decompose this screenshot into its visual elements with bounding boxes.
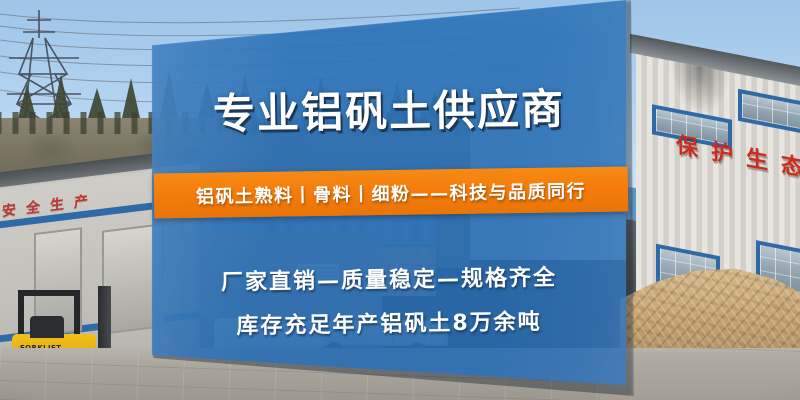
orange-ribbon: 铝矾土熟料丨骨料丨细粉——科技与品质同行 — [154, 166, 629, 218]
blue-panel-group: 专业铝矾土供应商 铝矾土熟料丨骨料丨细粉——科技与品质同行 厂家直销—质量稳定—… — [0, 0, 800, 400]
ribbon-label: 铝矾土熟料丨骨料丨细粉——科技与品质同行 — [196, 177, 586, 209]
promo-banner: 安全生产 FORKLIFT — [0, 0, 800, 400]
page-title: 专业铝矾土供应商 — [150, 74, 629, 142]
